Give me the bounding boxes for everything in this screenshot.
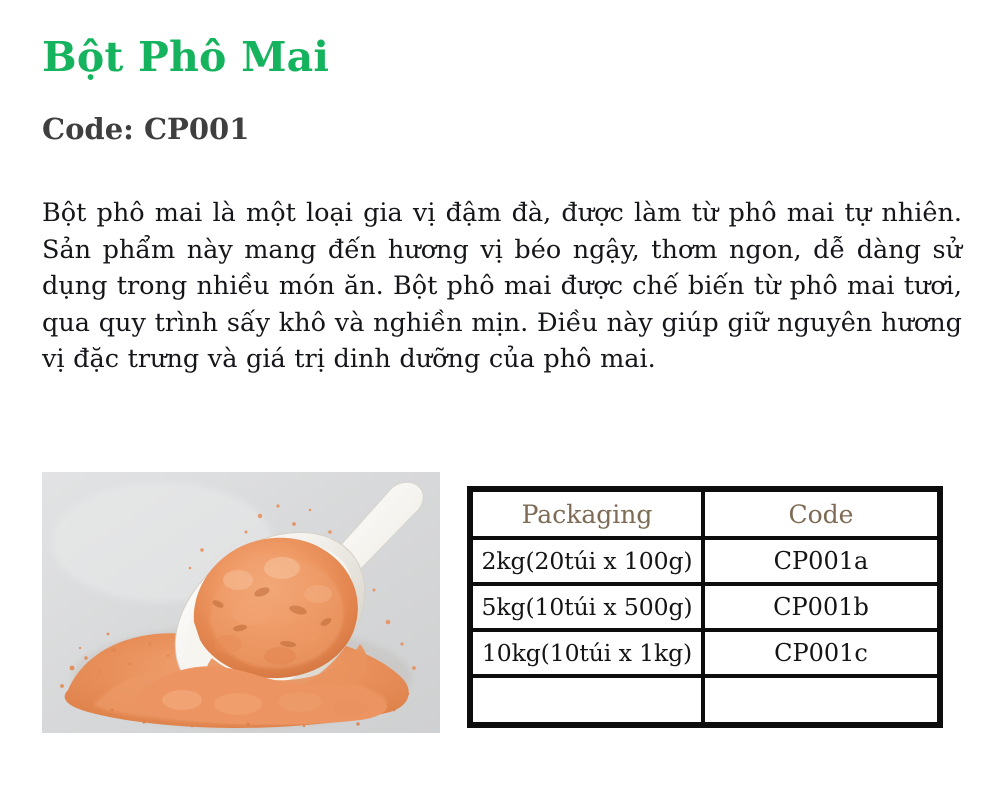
cell-packaging: 10kg(10túi x 1kg) bbox=[471, 630, 703, 676]
document-page: Bột Phô Mai Code: CP001 Bột phô mai là m… bbox=[0, 0, 1000, 800]
packaging-table-container: Packaging Code 2kg(20túi x 100g) CP001a … bbox=[467, 486, 935, 728]
cell-packaging: 5kg(10túi x 500g) bbox=[471, 584, 703, 630]
product-photo bbox=[42, 472, 440, 733]
cheese-powder-spoon-image bbox=[42, 472, 440, 733]
packaging-table: Packaging Code 2kg(20túi x 100g) CP001a … bbox=[467, 486, 943, 728]
table-row: 10kg(10túi x 1kg) CP001c bbox=[471, 630, 939, 676]
cell-code: CP001a bbox=[703, 538, 939, 584]
product-code-subtitle: Code: CP001 bbox=[42, 112, 249, 147]
cell-code bbox=[703, 676, 939, 724]
table-row bbox=[471, 676, 939, 724]
product-description: Bột phô mai là một loại gia vị đậm đà, đ… bbox=[42, 195, 962, 378]
column-header-code: Code bbox=[703, 490, 939, 538]
cell-code: CP001b bbox=[703, 584, 939, 630]
table-row: 5kg(10túi x 500g) CP001b bbox=[471, 584, 939, 630]
page-title: Bột Phô Mai bbox=[42, 33, 329, 81]
cell-packaging bbox=[471, 676, 703, 724]
cell-code: CP001c bbox=[703, 630, 939, 676]
table-header-row: Packaging Code bbox=[471, 490, 939, 538]
column-header-packaging: Packaging bbox=[471, 490, 703, 538]
cell-packaging: 2kg(20túi x 100g) bbox=[471, 538, 703, 584]
table-row: 2kg(20túi x 100g) CP001a bbox=[471, 538, 939, 584]
